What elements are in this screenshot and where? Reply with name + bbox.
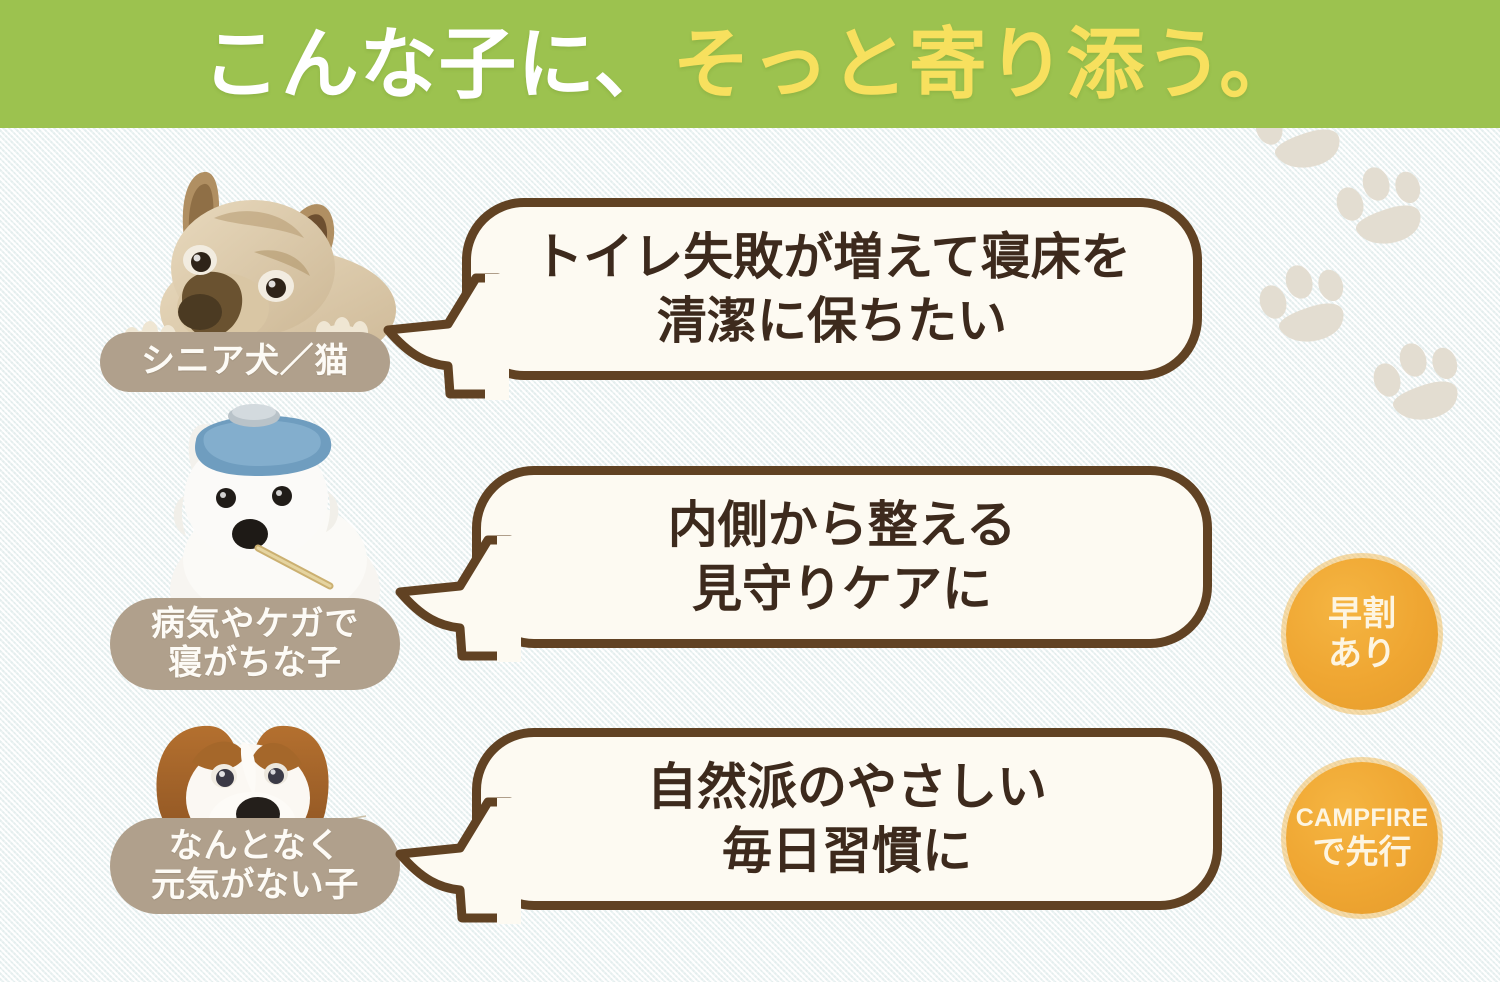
pet-label-line: 病気やケガで bbox=[151, 605, 359, 644]
pet-photo-white-terrier bbox=[130, 400, 420, 630]
page-title-part-2: そっと寄り添う。 bbox=[672, 20, 1298, 108]
badge-campfire-line-2: で先行 bbox=[1313, 833, 1412, 872]
pet-label-line: 寝がちな子 bbox=[168, 644, 341, 683]
poster-canvas: こんな子に、そっと寄り添う。 bbox=[0, 0, 1500, 1000]
bubble-2-line-2: 見守りケアに bbox=[692, 557, 992, 621]
bubble-1-line-2: 清潔に保ちたい bbox=[657, 289, 1007, 353]
bubble-3-line-2: 毎日習慣に bbox=[722, 819, 972, 883]
badge-early-discount-line-1: 早割 bbox=[1328, 594, 1396, 634]
bubble-3-line-1: 自然派のやさしい bbox=[647, 755, 1047, 819]
pet-label-senior: シニア犬／猫 bbox=[100, 332, 390, 392]
badge-campfire[interactable]: CAMPFIRE で先行 bbox=[1286, 762, 1438, 914]
pet-label-line: なんとなく bbox=[169, 827, 341, 866]
header-banner: こんな子に、そっと寄り添う。 bbox=[0, 0, 1500, 128]
badge-campfire-line-1: CAMPFIRE bbox=[1296, 804, 1429, 834]
pet-label-line: シニア犬／猫 bbox=[141, 342, 349, 381]
speech-bubble-3: 自然派のやさしい 毎日習慣に bbox=[472, 728, 1222, 910]
badge-early-discount-line-2: あり bbox=[1328, 634, 1396, 674]
pet-label-line: 元気がない子 bbox=[151, 866, 359, 905]
page-title-part-1: こんな子に、 bbox=[202, 20, 672, 108]
speech-bubble-2: 内側から整える 見守りケアに bbox=[472, 466, 1212, 648]
bottom-strip bbox=[0, 982, 1500, 1000]
bubble-1-line-1: トイレ失敗が増えて寝床を bbox=[533, 225, 1131, 289]
badge-early-discount[interactable]: 早割 あり bbox=[1286, 558, 1438, 710]
speech-bubble-1: トイレ失敗が増えて寝床を 清潔に保ちたい bbox=[462, 198, 1202, 380]
pet-label-low-energy: なんとなく 元気がない子 bbox=[110, 818, 400, 914]
page-title: こんな子に、そっと寄り添う。 bbox=[202, 25, 1298, 103]
bubble-2-line-1: 内側から整える bbox=[668, 493, 1017, 557]
pet-label-sick: 病気やケガで 寝がちな子 bbox=[110, 598, 400, 690]
